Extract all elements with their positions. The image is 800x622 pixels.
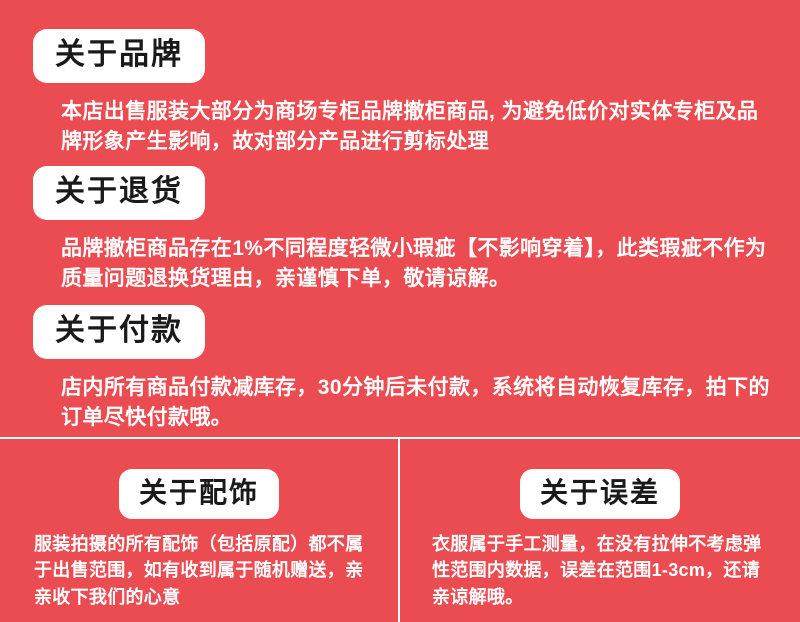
bottom-columns-area: 关于配饰 服装拍摄的所有配饰（包括原配）都不属于出售范围，如有收到属于随机赠送，…	[0, 439, 800, 622]
column-body-about-tolerance: 衣服属于手工测量，在没有拉伸不考虑弹性范围内数据，误差在范围1-3cm，还请亲谅…	[400, 519, 800, 610]
section-about-payment: 关于付款 店内所有商品付款减库存，30分钟后未付款，系统将自动恢复库存，拍下的订…	[33, 305, 773, 434]
section-body-about-returns: 品牌撤柜商品存在1%不同程度轻微小瑕疵【不影响穿着】，此类瑕疵不作为质量问题退换…	[33, 220, 773, 295]
section-about-brand: 关于品牌 本店出售服装大部分为商场专柜品牌撤柜商品, 为避免低价对实体专柜及品牌…	[33, 29, 773, 158]
column-heading-about-tolerance: 关于误差	[520, 469, 680, 519]
section-heading-about-returns: 关于退货	[33, 166, 205, 220]
section-about-returns: 关于退货 品牌撤柜商品存在1%不同程度轻微小瑕疵【不影响穿着】，此类瑕疵不作为质…	[33, 166, 773, 295]
column-heading-about-accessories: 关于配饰	[119, 469, 279, 519]
column-heading-wrap-accessories: 关于配饰	[0, 439, 398, 519]
column-about-measurement-tolerance: 关于误差 衣服属于手工测量，在没有拉伸不考虑弹性范围内数据，误差在范围1-3cm…	[400, 439, 800, 622]
column-heading-wrap-tolerance: 关于误差	[400, 439, 800, 519]
section-heading-about-brand: 关于品牌	[33, 29, 205, 83]
column-body-about-accessories: 服装拍摄的所有配饰（包括原配）都不属于出售范围，如有收到属于随机赠送，亲亲收下我…	[0, 519, 398, 610]
section-body-about-brand: 本店出售服装大部分为商场专柜品牌撤柜商品, 为避免低价对实体专柜及品牌形象产生影…	[33, 83, 773, 158]
section-heading-about-payment: 关于付款	[33, 305, 205, 359]
column-about-accessories: 关于配饰 服装拍摄的所有配饰（包括原配）都不属于出售范围，如有收到属于随机赠送，…	[0, 439, 398, 622]
top-sections-area: 关于品牌 本店出售服装大部分为商场专柜品牌撤柜商品, 为避免低价对实体专柜及品牌…	[0, 0, 800, 437]
section-body-about-payment: 店内所有商品付款减库存，30分钟后未付款，系统将自动恢复库存，拍下的订单尽快付款…	[33, 359, 773, 434]
shop-notice-banner: 关于品牌 本店出售服装大部分为商场专柜品牌撤柜商品, 为避免低价对实体专柜及品牌…	[0, 0, 800, 622]
